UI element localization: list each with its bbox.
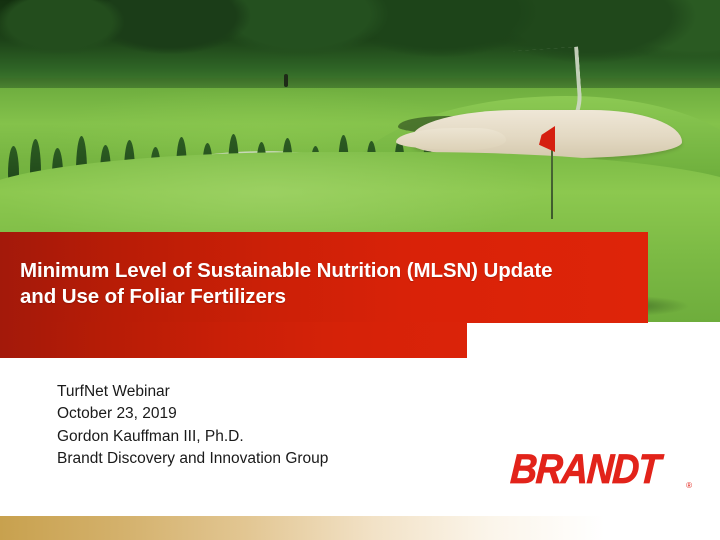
- detail-date: October 23, 2019: [57, 403, 328, 425]
- title-slide: Minimum Level of Sustainable Nutrition (…: [0, 0, 720, 540]
- registered-trademark-icon: ®: [686, 481, 692, 490]
- detail-event-name: TurfNet Webinar: [57, 381, 328, 403]
- golfer-silhouette: [284, 74, 288, 87]
- detail-presenter: Gordon Kauffman III, Ph.D.: [57, 426, 328, 448]
- page-title-line-2: and Use of Foliar Fertilizers: [20, 284, 620, 310]
- title-banner-lower-step: [0, 322, 467, 358]
- sand-bunker-lobe: [396, 128, 506, 150]
- footer-accent-strip: [0, 516, 720, 540]
- brandt-wordmark: BRANDT: [509, 446, 661, 493]
- brandt-logo: BRANDT ®: [512, 446, 692, 492]
- detail-organization: Brandt Discovery and Innovation Group: [57, 448, 328, 470]
- presentation-details: TurfNet Webinar October 23, 2019 Gordon …: [57, 381, 328, 470]
- page-title-line-1: Minimum Level of Sustainable Nutrition (…: [20, 258, 620, 284]
- page-title: Minimum Level of Sustainable Nutrition (…: [20, 258, 620, 310]
